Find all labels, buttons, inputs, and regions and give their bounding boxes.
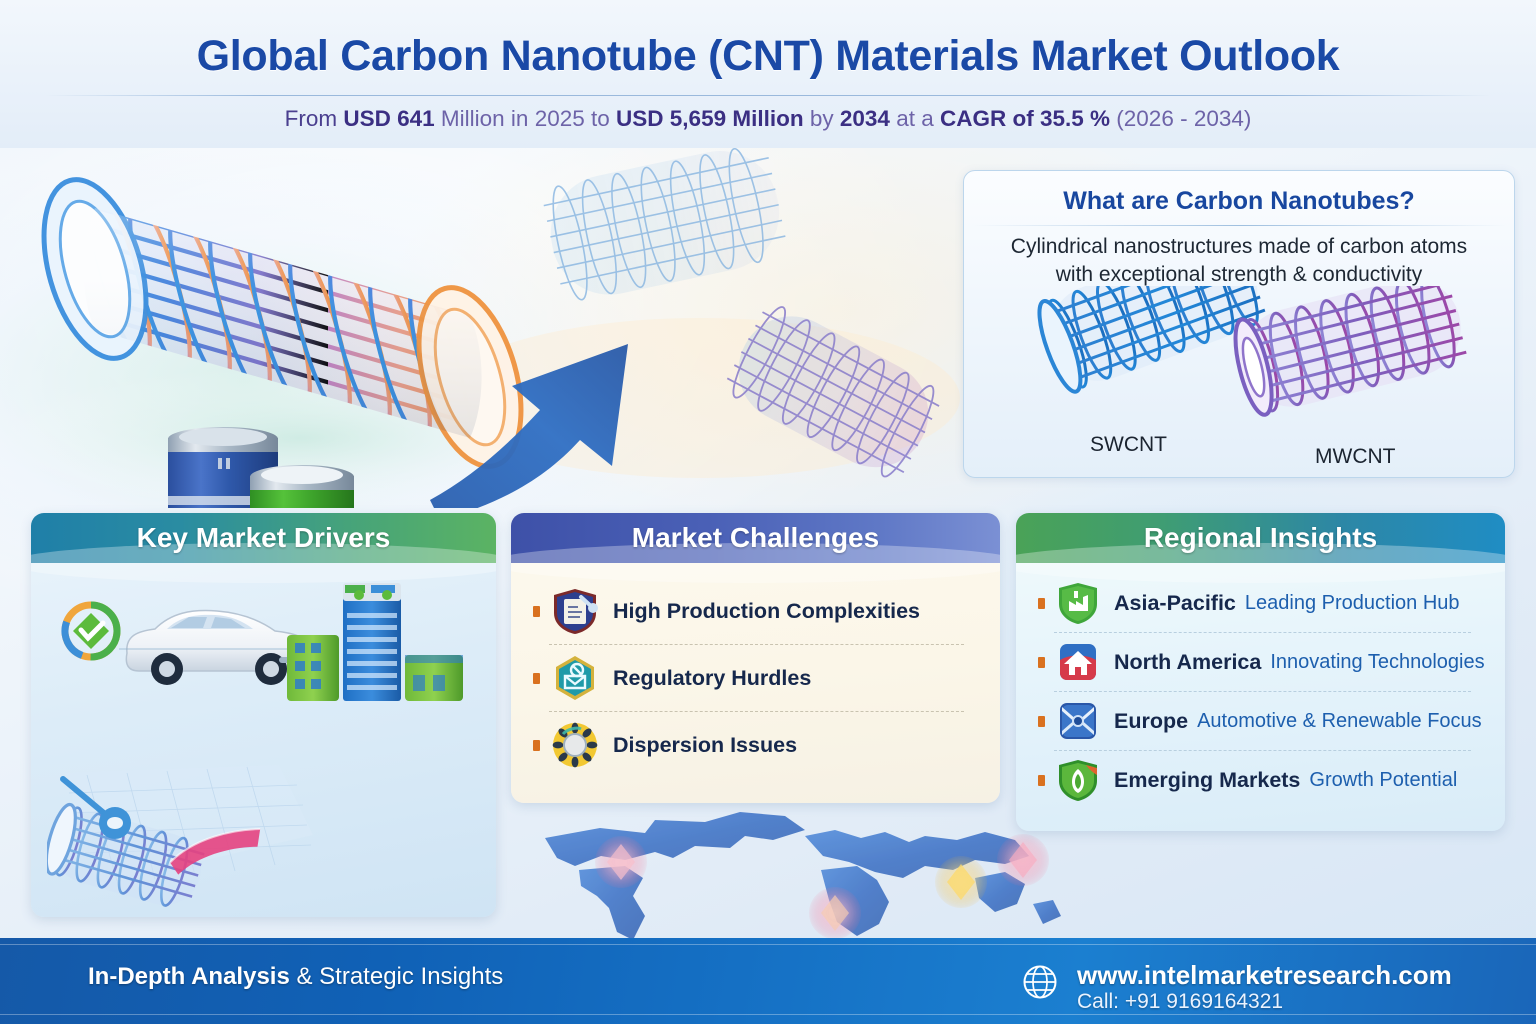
market-challenges-panel: Market Challenges High Production Comple [511, 513, 1000, 803]
subtitle-text-1: From [285, 106, 344, 131]
world-map-decoration [505, 800, 1065, 950]
region-label: Emerging Markets [1114, 768, 1300, 793]
footer-top-rule [0, 944, 1536, 945]
bullet-marker [1038, 598, 1045, 609]
what-are-description: Cylindrical nanostructures made of carbo… [964, 233, 1514, 288]
footer-tagline: In-Depth Analysis & Strategic Insights [88, 963, 503, 991]
challenges-title: Market Challenges [511, 513, 1000, 563]
hero-nanotube-art [0, 148, 960, 508]
ghost-nanotube-back [540, 148, 790, 305]
bullet-marker [1038, 657, 1045, 668]
subtitle-year-1: 2025 [535, 106, 585, 131]
regional-header: Regional Insights [1016, 513, 1505, 563]
region-sub: Leading Production Hub [1245, 592, 1460, 615]
row-divider [549, 711, 964, 712]
footer-tagline-rest: & Strategic Insights [290, 963, 503, 990]
subtitle-text-5: at a [890, 106, 940, 131]
industry-buildings-icon [287, 583, 463, 701]
region-sub: Automotive & Renewable Focus [1197, 710, 1482, 733]
footer-bottom-rule [0, 1014, 1536, 1015]
regional-insights-panel: Regional Insights Asia-Pacific Leading P… [1016, 513, 1505, 831]
region-item[interactable]: Emerging Markets Growth Potential [1038, 758, 1487, 802]
key-market-drivers-panel: Key Market Drivers [31, 513, 496, 917]
swcnt-mwcnt-illustration [964, 286, 1515, 478]
nanotube-probe-illustration [47, 761, 347, 911]
region-item[interactable]: North America Innovating Technologies [1038, 640, 1487, 684]
hero-illustration: USD 6,669M by 2034 [0, 148, 960, 508]
key-drivers-header: Key Market Drivers [31, 513, 496, 563]
challenge-label: High Production Complexities [613, 599, 920, 624]
subtitle-value-2: USD 5,659 Million [616, 106, 804, 131]
challenge-label: Regulatory Hurdles [613, 666, 811, 691]
envelope-star-icon [1056, 699, 1100, 743]
bullet-marker [1038, 775, 1045, 786]
website-link[interactable]: www.intelmarketresearch.com [1077, 960, 1452, 991]
what-are-divider [972, 225, 1508, 226]
globe-icon [1022, 964, 1058, 1000]
what-are-cnt-panel: What are Carbon Nanotubes? Cylindrical n… [963, 170, 1515, 478]
footer-tagline-bold: In-Depth Analysis [88, 963, 290, 990]
region-sub: Innovating Technologies [1270, 651, 1484, 674]
row-divider [549, 644, 964, 645]
challenge-item[interactable]: High Production Complexities [533, 587, 980, 635]
infographic-canvas: Global Carbon Nanotube (CNT) Materials M… [0, 0, 1536, 1024]
hexagon-stamp-icon [551, 654, 599, 702]
region-label: North America [1114, 650, 1261, 675]
region-sub: Growth Potential [1309, 769, 1457, 792]
gear-sun-icon [551, 721, 599, 769]
subtitle-cagr: CAGR of 35.5 % [940, 106, 1110, 131]
region-label: Asia-Pacific [1114, 591, 1236, 616]
subtitle-year-2: 2034 [840, 106, 890, 131]
swcnt-label: SWCNT [1090, 433, 1167, 457]
phone-number: Call: +91 9169164321 [1077, 990, 1283, 1014]
subtitle-text-4: by [804, 106, 840, 131]
subtitle-value-1: USD 641 [343, 106, 434, 131]
challenge-label: Dispersion Issues [613, 733, 797, 758]
mwcnt-tube [1228, 286, 1471, 418]
bullet-marker [1038, 716, 1045, 727]
page-title: Global Carbon Nanotube (CNT) Materials M… [0, 32, 1536, 81]
region-item[interactable]: Asia-Pacific Leading Production Hub [1038, 581, 1487, 625]
subtitle-text-2: Million in [435, 106, 535, 131]
electric-car-icon [126, 611, 315, 685]
row-divider [1054, 750, 1471, 751]
challenge-item[interactable]: Dispersion Issues [533, 721, 980, 769]
subtitle: From USD 641 Million in 2025 to USD 5,65… [0, 106, 1536, 132]
footer-band: In-Depth Analysis & Strategic Insights w… [0, 938, 1536, 1024]
row-divider [1054, 691, 1471, 692]
row-divider [1054, 632, 1471, 633]
title-divider [44, 95, 1492, 96]
challenges-header: Market Challenges [511, 513, 1000, 563]
challenge-item[interactable]: Regulatory Hurdles [533, 654, 980, 702]
bullet-marker [533, 606, 540, 617]
key-drivers-title: Key Market Drivers [31, 513, 496, 563]
bullet-marker [533, 673, 540, 684]
what-are-title: What are Carbon Nanotubes? [964, 187, 1514, 216]
shield-document-icon [551, 587, 599, 635]
mwcnt-label: MWCNT [1315, 445, 1395, 469]
bullet-marker [533, 740, 540, 751]
shield-factory-icon [1056, 581, 1100, 625]
regional-title: Regional Insights [1016, 513, 1505, 563]
drivers-automotive-illustration [31, 565, 496, 710]
what-are-line-2: with exceptional strength & conductivity [1056, 263, 1423, 286]
shield-leaf-icon [1056, 758, 1100, 802]
home-icon [1056, 640, 1100, 684]
eco-badge-icon [58, 598, 125, 665]
region-item[interactable]: Europe Automotive & Renewable Focus [1038, 699, 1487, 743]
subtitle-text-3: to [585, 106, 616, 131]
header-band: Global Carbon Nanotube (CNT) Materials M… [0, 0, 1536, 148]
region-label: Europe [1114, 709, 1188, 734]
subtitle-period: (2026 - 2034) [1110, 106, 1251, 131]
what-are-line-1: Cylindrical nanostructures made of carbo… [1011, 235, 1467, 258]
